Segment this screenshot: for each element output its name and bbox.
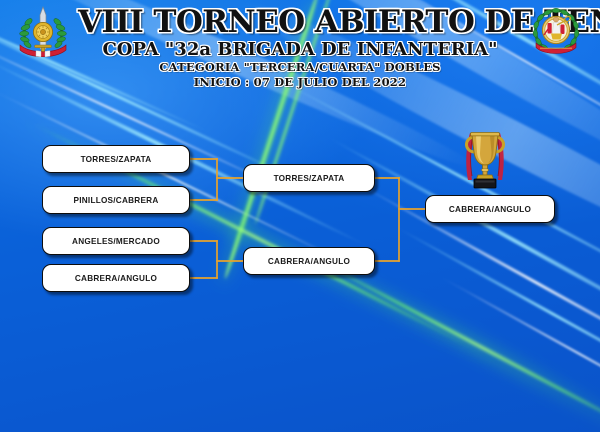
bracket-seed-box[interactable]: TORRES/ZAPATA: [42, 145, 190, 173]
bracket-team-name: ANGELES/MERCADO: [72, 237, 160, 246]
tournament-bracket: TORRES/ZAPATA PINILLOS/CABRERA ANGELES/M…: [0, 0, 600, 432]
bracket-team-name: CABRERA/ANGULO: [268, 257, 350, 266]
bracket-seed-box[interactable]: PINILLOS/CABRERA: [42, 186, 190, 214]
bracket-semifinal-box[interactable]: TORRES/ZAPATA: [243, 164, 375, 192]
bracket-team-name: CABRERA/ANGULO: [75, 274, 157, 283]
bracket-seed-box[interactable]: CABRERA/ANGULO: [42, 264, 190, 292]
tournament-poster: VIII TORNEO ABIERTO DE TENIS 2022 COPA "…: [0, 0, 600, 432]
bracket-seed-box[interactable]: ANGELES/MERCADO: [42, 227, 190, 255]
bracket-team-name: TORRES/ZAPATA: [274, 174, 345, 183]
bracket-team-name: PINILLOS/CABRERA: [74, 196, 159, 205]
bracket-champion-box[interactable]: CABRERA/ANGULO: [425, 195, 555, 223]
bracket-semifinal-box[interactable]: CABRERA/ANGULO: [243, 247, 375, 275]
bracket-team-name: TORRES/ZAPATA: [81, 155, 152, 164]
bracket-team-name: CABRERA/ANGULO: [449, 205, 531, 214]
gold-trophy-icon: [457, 118, 513, 192]
